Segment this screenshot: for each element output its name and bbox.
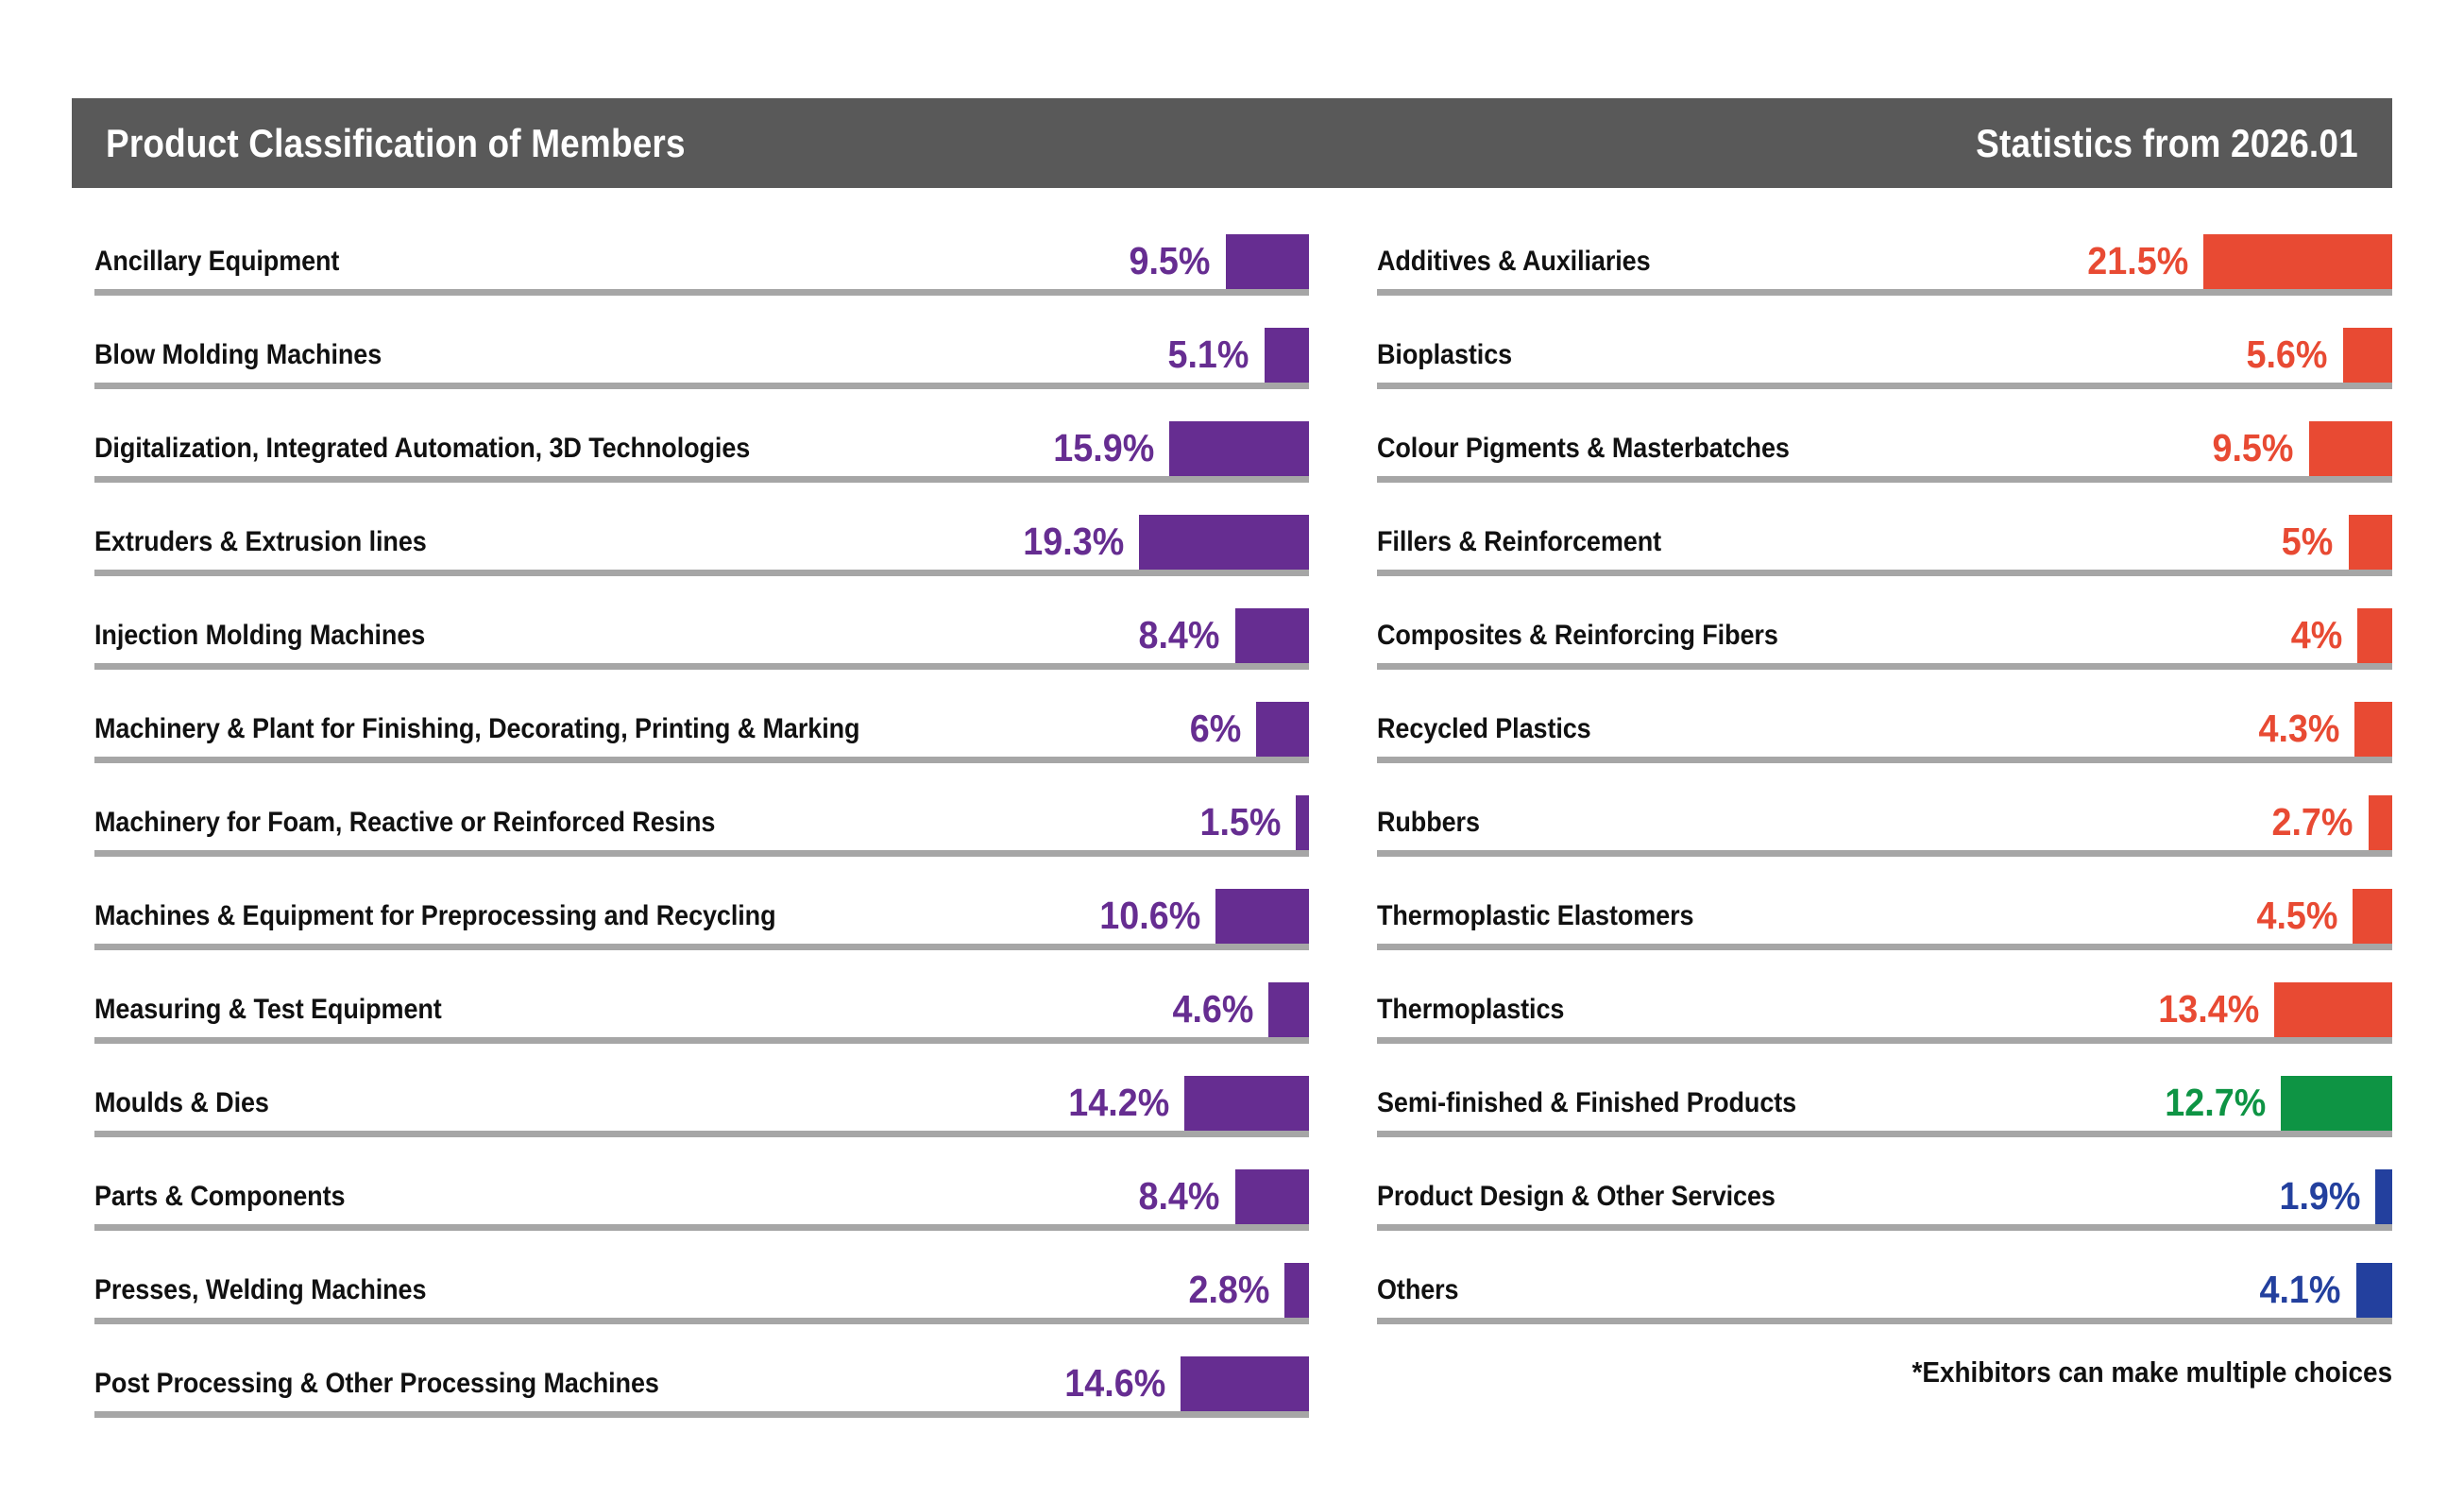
bar-row[interactable]: Moulds & Dies14.2% xyxy=(94,1049,1309,1143)
bar-value-label: 19.3% xyxy=(1024,520,1125,564)
bar-row-inner: Thermoplastic Elastomers4.5% xyxy=(1377,877,2392,950)
row-baseline xyxy=(94,289,1309,296)
bar-row-inner: Rubbers2.7% xyxy=(1377,783,2392,857)
statistics-period-label: Statistics from 2026.01 xyxy=(1976,121,2358,166)
bar-row-inner: Product Design & Other Services1.9% xyxy=(1377,1157,2392,1231)
bar-row[interactable]: Machinery & Plant for Finishing, Decorat… xyxy=(94,675,1309,769)
bar-fill[interactable] xyxy=(1184,1076,1309,1134)
row-baseline xyxy=(1377,476,2392,483)
header-banner: Product Classification of Members Statis… xyxy=(72,98,2392,188)
row-baseline xyxy=(94,663,1309,670)
bar-fill[interactable] xyxy=(1265,328,1309,386)
bar-fill[interactable] xyxy=(1139,515,1309,573)
bar-category-label: Ancillary Equipment xyxy=(94,246,339,278)
bar-category-label: Blow Molding Machines xyxy=(94,339,382,371)
bar-category-label: Digitalization, Integrated Automation, 3… xyxy=(94,433,750,465)
bar-fill[interactable] xyxy=(2354,702,2392,760)
bar-category-label: Machinery & Plant for Finishing, Decorat… xyxy=(94,713,859,745)
bar-row[interactable]: Ancillary Equipment9.5% xyxy=(94,208,1309,301)
bar-value-label: 2.7% xyxy=(2272,800,2354,844)
bar-fill[interactable] xyxy=(1256,702,1309,760)
row-baseline xyxy=(94,383,1309,389)
row-baseline xyxy=(94,570,1309,576)
bar-row[interactable]: Rubbers2.7% xyxy=(1377,769,2392,862)
bar-value-label: 6% xyxy=(1190,707,1242,751)
row-baseline xyxy=(1377,1224,2392,1231)
bar-row[interactable]: Parts & Components8.4% xyxy=(94,1143,1309,1236)
bar-fill[interactable] xyxy=(2353,889,2392,947)
bar-row[interactable]: Composites & Reinforcing Fibers4% xyxy=(1377,582,2392,675)
bar-row-inner: Recycled Plastics4.3% xyxy=(1377,690,2392,763)
bar-fill[interactable] xyxy=(1215,889,1309,947)
bar-row-inner: Bioplastics5.6% xyxy=(1377,315,2392,389)
bar-row-inner: Post Processing & Other Processing Machi… xyxy=(94,1344,1309,1418)
bar-category-label: Machinery for Foam, Reactive or Reinforc… xyxy=(94,807,715,839)
row-baseline xyxy=(94,944,1309,950)
page-title: Product Classification of Members xyxy=(106,121,686,166)
bar-row-inner: Thermoplastics13.4% xyxy=(1377,970,2392,1044)
bar-row-inner: Semi-finished & Finished Products12.7% xyxy=(1377,1064,2392,1137)
bar-row[interactable]: Machinery for Foam, Reactive or Reinforc… xyxy=(94,769,1309,862)
bar-fill[interactable] xyxy=(1169,421,1309,480)
row-baseline xyxy=(1377,850,2392,857)
bar-fill[interactable] xyxy=(1296,795,1309,854)
bar-category-label: Composites & Reinforcing Fibers xyxy=(1377,620,1778,652)
bar-row-inner: Blow Molding Machines5.1% xyxy=(94,315,1309,389)
bar-value-label: 14.6% xyxy=(1064,1361,1165,1406)
row-baseline xyxy=(94,1411,1309,1418)
bar-category-label: Post Processing & Other Processing Machi… xyxy=(94,1368,659,1400)
row-baseline xyxy=(94,850,1309,857)
bar-category-label: Moulds & Dies xyxy=(94,1087,269,1119)
bar-category-label: Semi-finished & Finished Products xyxy=(1377,1087,1796,1119)
bar-row-inner: Additives & Auxiliaries21.5% xyxy=(1377,222,2392,296)
bar-row-inner: Composites & Reinforcing Fibers4% xyxy=(1377,596,2392,670)
bar-row[interactable]: Post Processing & Other Processing Machi… xyxy=(94,1330,1309,1423)
bar-value-label: 4% xyxy=(2290,613,2342,657)
bar-fill[interactable] xyxy=(1268,982,1309,1041)
bar-value-label: 13.4% xyxy=(2158,987,2259,1031)
bar-fill[interactable] xyxy=(2274,982,2392,1041)
bar-row-inner: Machinery & Plant for Finishing, Decorat… xyxy=(94,690,1309,763)
bar-category-label: Others xyxy=(1377,1274,1458,1306)
bar-row[interactable]: Injection Molding Machines8.4% xyxy=(94,582,1309,675)
bar-category-label: Machines & Equipment for Preprocessing a… xyxy=(94,900,775,932)
bar-row-inner: Fillers & Reinforcement5% xyxy=(1377,503,2392,576)
bar-row-inner: Machinery for Foam, Reactive or Reinforc… xyxy=(94,783,1309,857)
bar-value-label: 9.5% xyxy=(1130,239,1211,283)
row-baseline xyxy=(1377,944,2392,950)
bar-fill[interactable] xyxy=(2281,1076,2392,1134)
bar-value-label: 5.6% xyxy=(2247,332,2328,377)
bar-row[interactable]: Thermoplastic Elastomers4.5% xyxy=(1377,862,2392,956)
bar-fill[interactable] xyxy=(2375,1169,2392,1228)
bar-value-label: 4.1% xyxy=(2260,1268,2341,1312)
chart-column-left: Ancillary Equipment9.5%Blow Molding Mach… xyxy=(94,208,1309,1423)
bar-row[interactable]: Blow Molding Machines5.1% xyxy=(94,301,1309,395)
bar-row[interactable]: Extruders & Extrusion lines19.3% xyxy=(94,488,1309,582)
bar-fill[interactable] xyxy=(1226,234,1309,293)
footnote: *Exhibitors can make multiple choices xyxy=(1912,1355,2392,1389)
bar-value-label: 12.7% xyxy=(2165,1081,2266,1125)
bar-category-label: Recycled Plastics xyxy=(1377,713,1591,745)
bar-row[interactable]: Semi-finished & Finished Products12.7% xyxy=(1377,1049,2392,1143)
bar-row[interactable]: Product Design & Other Services1.9% xyxy=(1377,1143,2392,1236)
bar-row-inner: Injection Molding Machines8.4% xyxy=(94,596,1309,670)
row-baseline xyxy=(1377,570,2392,576)
row-baseline xyxy=(1377,757,2392,763)
bar-row-inner: Presses, Welding Machines2.8% xyxy=(94,1251,1309,1324)
bar-fill[interactable] xyxy=(1235,1169,1309,1228)
bar-category-label: Thermoplastics xyxy=(1377,994,1564,1026)
bar-category-label: Thermoplastic Elastomers xyxy=(1377,900,1693,932)
bar-row[interactable]: Fillers & Reinforcement5% xyxy=(1377,488,2392,582)
bar-row[interactable]: Thermoplastics13.4% xyxy=(1377,956,2392,1049)
row-baseline xyxy=(94,757,1309,763)
bar-value-label: 4.6% xyxy=(1172,987,1253,1031)
bar-value-label: 1.9% xyxy=(2279,1174,2360,1219)
bar-value-label: 15.9% xyxy=(1053,426,1154,470)
bar-fill[interactable] xyxy=(2369,795,2392,854)
bar-row-inner: Others4.1% xyxy=(1377,1251,2392,1324)
bar-category-label: Measuring & Test Equipment xyxy=(94,994,442,1026)
bar-fill[interactable] xyxy=(2357,608,2392,667)
bar-value-label: 8.4% xyxy=(1139,613,1220,657)
bar-category-label: Rubbers xyxy=(1377,807,1480,839)
bar-value-label: 1.5% xyxy=(1199,800,1281,844)
row-baseline xyxy=(1377,383,2392,389)
bar-value-label: 8.4% xyxy=(1139,1174,1220,1219)
bar-row[interactable]: Colour Pigments & Masterbatches9.5% xyxy=(1377,395,2392,488)
bar-value-label: 5% xyxy=(2282,520,2334,564)
bar-category-label: Injection Molding Machines xyxy=(94,620,425,652)
chart-column-right: Additives & Auxiliaries21.5%Bioplastics5… xyxy=(1377,208,2392,1330)
row-baseline xyxy=(1377,663,2392,670)
bar-fill[interactable] xyxy=(2203,234,2392,293)
bar-category-label: Fillers & Reinforcement xyxy=(1377,526,1661,558)
row-baseline xyxy=(1377,289,2392,296)
bar-row-inner: Extruders & Extrusion lines19.3% xyxy=(94,503,1309,576)
row-baseline xyxy=(1377,1131,2392,1137)
row-baseline xyxy=(94,476,1309,483)
bar-category-label: Presses, Welding Machines xyxy=(94,1274,426,1306)
bar-value-label: 10.6% xyxy=(1099,894,1200,938)
row-baseline xyxy=(94,1318,1309,1324)
bar-fill[interactable] xyxy=(2356,1263,2392,1321)
bar-row[interactable]: Presses, Welding Machines2.8% xyxy=(94,1236,1309,1330)
bar-row-inner: Moulds & Dies14.2% xyxy=(94,1064,1309,1137)
bar-fill[interactable] xyxy=(2343,328,2392,386)
bar-fill[interactable] xyxy=(2309,421,2392,480)
bar-row[interactable]: Measuring & Test Equipment4.6% xyxy=(94,956,1309,1049)
row-baseline xyxy=(1377,1037,2392,1044)
row-baseline xyxy=(94,1037,1309,1044)
row-baseline xyxy=(94,1131,1309,1137)
bar-row-inner: Parts & Components8.4% xyxy=(94,1157,1309,1231)
bar-fill[interactable] xyxy=(1235,608,1309,667)
bar-row-inner: Colour Pigments & Masterbatches9.5% xyxy=(1377,409,2392,483)
bar-fill[interactable] xyxy=(2349,515,2393,573)
bar-row-inner: Digitalization, Integrated Automation, 3… xyxy=(94,409,1309,483)
bar-row-inner: Machines & Equipment for Preprocessing a… xyxy=(94,877,1309,950)
bar-fill[interactable] xyxy=(1284,1263,1309,1321)
bar-value-label: 2.8% xyxy=(1188,1268,1269,1312)
row-baseline xyxy=(1377,1318,2392,1324)
bar-category-label: Additives & Auxiliaries xyxy=(1377,246,1651,278)
bar-value-label: 5.1% xyxy=(1168,332,1249,377)
bar-value-label: 4.5% xyxy=(2256,894,2337,938)
bar-row-inner: Measuring & Test Equipment4.6% xyxy=(94,970,1309,1044)
bar-row[interactable]: Additives & Auxiliaries21.5% xyxy=(1377,208,2392,301)
bar-category-label: Colour Pigments & Masterbatches xyxy=(1377,433,1790,465)
bar-fill[interactable] xyxy=(1181,1356,1309,1415)
bar-row-inner: Ancillary Equipment9.5% xyxy=(94,222,1309,296)
bar-category-label: Parts & Components xyxy=(94,1181,345,1213)
bar-category-label: Product Design & Other Services xyxy=(1377,1181,1776,1213)
bar-category-label: Bioplastics xyxy=(1377,339,1512,371)
bar-row[interactable]: Recycled Plastics4.3% xyxy=(1377,675,2392,769)
bar-category-label: Extruders & Extrusion lines xyxy=(94,526,427,558)
bar-value-label: 14.2% xyxy=(1068,1081,1169,1125)
row-baseline xyxy=(94,1224,1309,1231)
bar-value-label: 21.5% xyxy=(2087,239,2188,283)
bar-row[interactable]: Digitalization, Integrated Automation, 3… xyxy=(94,395,1309,488)
bar-row[interactable]: Machines & Equipment for Preprocessing a… xyxy=(94,862,1309,956)
bar-value-label: 4.3% xyxy=(2258,707,2339,751)
bar-row[interactable]: Bioplastics5.6% xyxy=(1377,301,2392,395)
bar-row[interactable]: Others4.1% xyxy=(1377,1236,2392,1330)
bar-value-label: 9.5% xyxy=(2213,426,2294,470)
